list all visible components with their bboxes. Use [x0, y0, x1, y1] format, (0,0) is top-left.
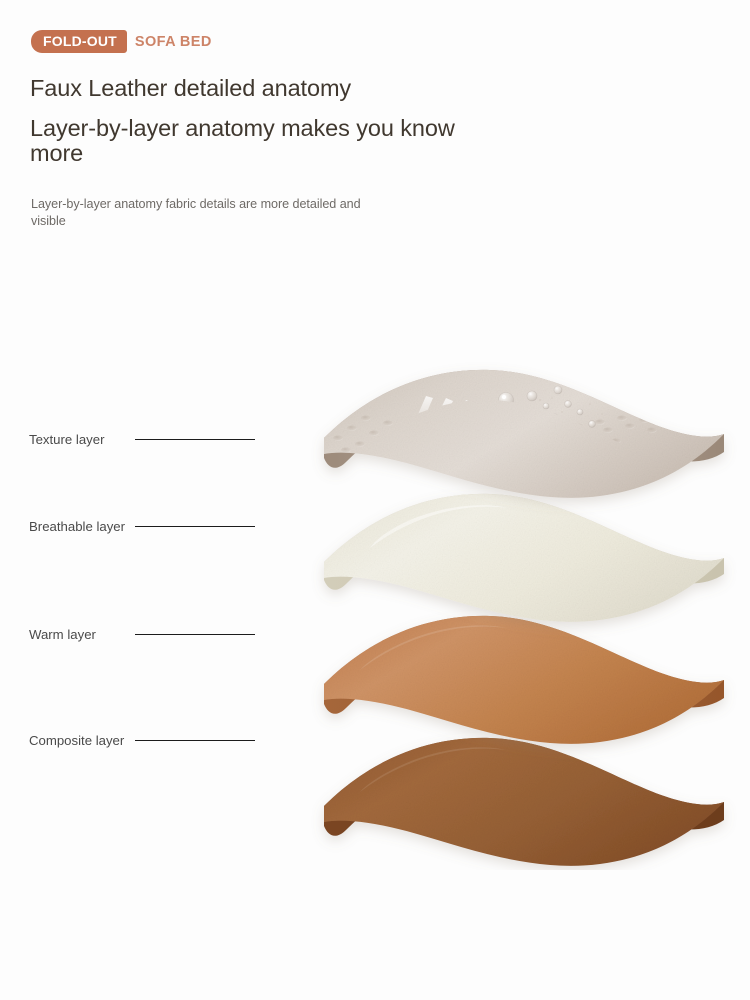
layer-sheet-breathable: [324, 494, 724, 622]
layer-callout-label: Breathable layer: [29, 519, 129, 535]
fabric-layers-illustration: [300, 340, 750, 870]
leader-line: [135, 526, 255, 527]
leader-line: [135, 439, 255, 440]
layer-callout-label: Composite layer: [29, 733, 129, 749]
leader-line: [135, 634, 255, 635]
layer-sheet-texture: [324, 363, 724, 498]
layer-callout-list: Texture layer Breathable layer Warm laye…: [0, 0, 300, 1000]
layer-callout-composite: Composite layer: [29, 733, 279, 749]
layer-sheet-composite: [324, 738, 724, 866]
layer-callout-label: Texture layer: [29, 432, 129, 448]
layer-callout-texture: Texture layer: [29, 432, 279, 448]
layer-callout-warm: Warm layer: [29, 627, 279, 643]
layer-sheet-warm: [324, 616, 724, 744]
leader-line: [135, 740, 255, 741]
layer-callout-breathable: Breathable layer: [29, 519, 279, 535]
layer-callout-label: Warm layer: [29, 627, 129, 643]
